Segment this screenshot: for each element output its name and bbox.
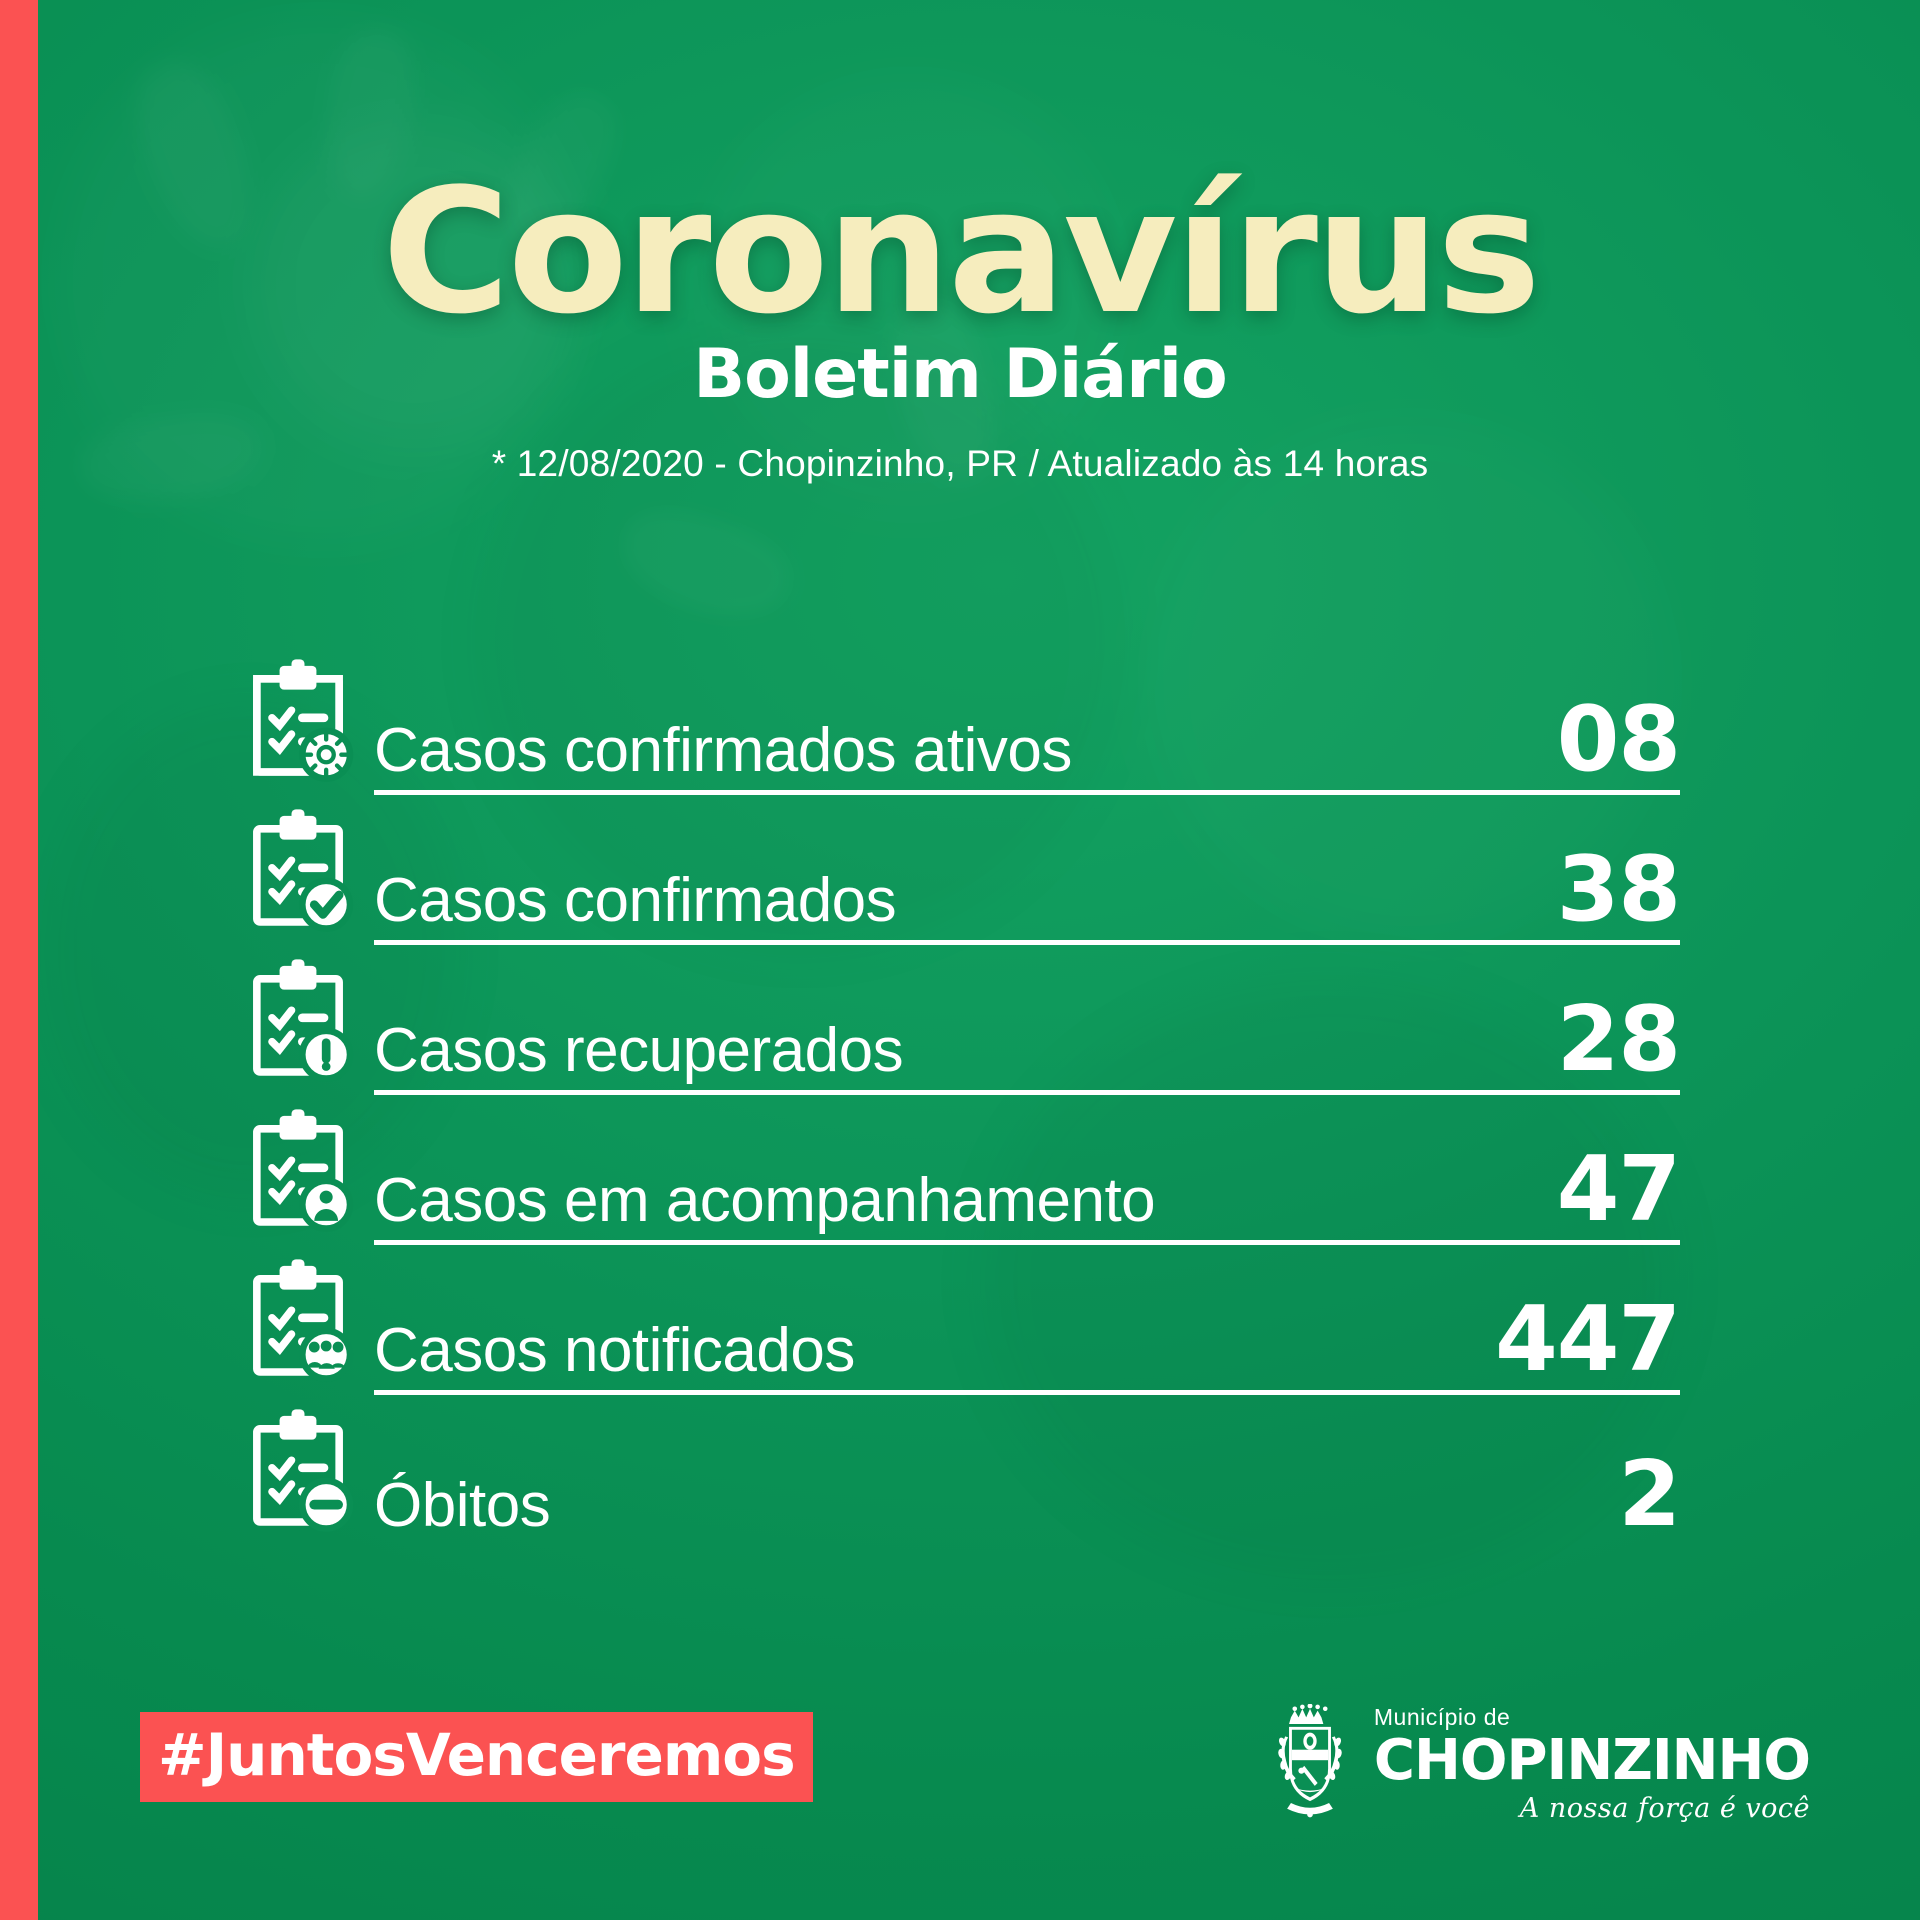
poster-footer: #JuntosVenceremos — [0, 1660, 1920, 1920]
stat-row: Casos confirmados 38 — [232, 795, 1680, 945]
page-title: Coronavírus — [0, 170, 1920, 333]
stat-row: Casos notificados 447 — [232, 1245, 1680, 1395]
clipboard-people-icon — [232, 1255, 364, 1385]
stat-value: 2 — [1618, 1452, 1680, 1538]
stat-value: 28 — [1557, 997, 1680, 1083]
poster-header: Coronavírus Boletim Diário * 12/08/2020 … — [0, 170, 1920, 485]
clipboard-minus-icon — [232, 1405, 364, 1535]
stat-label: Casos confirmados ativos — [374, 720, 1072, 782]
stat-row: Casos em acompanhamento 47 — [232, 1095, 1680, 1245]
stat-body: Óbitos 2 — [374, 1452, 1680, 1546]
left-red-stripe — [0, 0, 38, 1920]
stat-value: 447 — [1495, 1297, 1680, 1383]
stat-label: Óbitos — [374, 1475, 550, 1537]
statistics-list: Casos confirmados ativos 08 — [232, 645, 1680, 1545]
stat-body: Casos recuperados 28 — [374, 997, 1680, 1096]
stat-label: Casos confirmados — [374, 870, 896, 932]
clipboard-exclamation-icon — [232, 955, 364, 1085]
hashtag-banner: #JuntosVenceremos — [140, 1712, 813, 1802]
brand-slogan: A nossa força é você — [1374, 1795, 1810, 1822]
stat-body: Casos confirmados 38 — [374, 847, 1680, 946]
stat-label: Casos recuperados — [374, 1020, 903, 1082]
stat-body: Casos notificados 447 — [374, 1297, 1680, 1396]
stat-value: 47 — [1557, 1147, 1680, 1233]
brand-city-name: CHOPINZINHO — [1374, 1733, 1810, 1789]
stat-value: 38 — [1557, 847, 1680, 933]
coat-of-arms-icon — [1262, 1704, 1358, 1824]
stat-label: Casos em acompanhamento — [374, 1170, 1155, 1232]
brand-prefix: Município de — [1374, 1706, 1810, 1729]
stat-row: Óbitos 2 — [232, 1395, 1680, 1545]
stat-value: 08 — [1557, 697, 1680, 783]
clipboard-check-icon — [232, 805, 364, 935]
municipality-logo: Município de CHOPINZINHO A nossa força é… — [1262, 1704, 1810, 1824]
coronavirus-daily-bulletin-poster: Coronavírus Boletim Diário * 12/08/2020 … — [0, 0, 1920, 1920]
brand-text-block: Município de CHOPINZINHO A nossa força é… — [1374, 1706, 1810, 1822]
stat-body: Casos em acompanhamento 47 — [374, 1147, 1680, 1246]
clipboard-person-icon — [232, 1105, 364, 1235]
stat-label: Casos notificados — [374, 1320, 855, 1382]
clipboard-virus-icon — [232, 655, 364, 785]
stat-row: Casos recuperados 28 — [232, 945, 1680, 1095]
stat-row: Casos confirmados ativos 08 — [232, 645, 1680, 795]
dateline-text: * 12/08/2020 - Chopinzinho, PR / Atualiz… — [0, 443, 1920, 485]
stat-body: Casos confirmados ativos 08 — [374, 697, 1680, 796]
